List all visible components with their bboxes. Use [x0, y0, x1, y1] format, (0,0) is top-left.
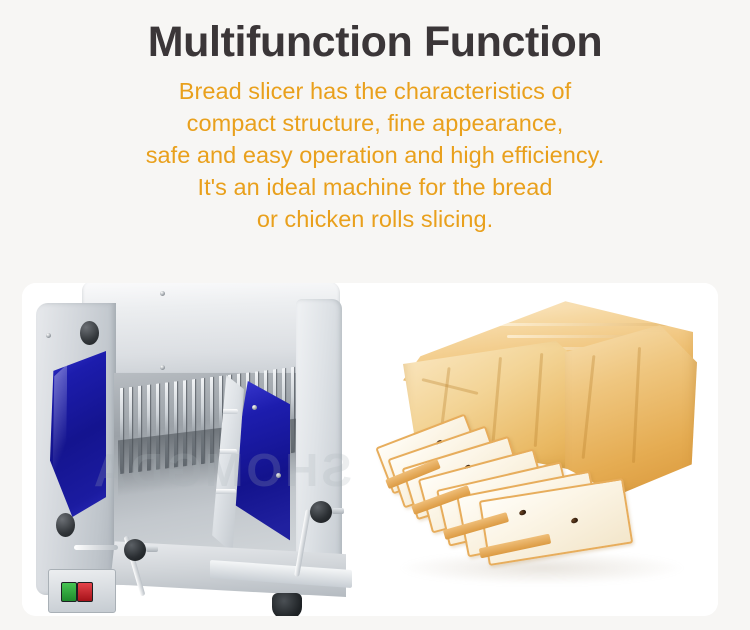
promo-banner: Multifunction Function Bread slicer has … — [0, 0, 750, 630]
machine-port-lower — [56, 513, 75, 537]
machine-screw — [46, 333, 51, 338]
header-text-block: Multifunction Function Bread slicer has … — [0, 0, 750, 283]
machine-port-upper — [80, 321, 99, 345]
page-title: Multifunction Function — [0, 0, 750, 69]
machine-adjust-knob-right[interactable] — [310, 501, 332, 523]
bread-photo — [367, 283, 718, 616]
description-paragraph: Bread slicer has the characteristics of … — [0, 69, 750, 235]
machine-screw — [160, 291, 165, 296]
description-line-2: compact structure, fine appearance, — [0, 107, 750, 139]
description-line-5: or chicken rolls slicing. — [0, 203, 750, 235]
description-line-1: Bread slicer has the characteristics of — [0, 75, 750, 107]
power-on-switch[interactable] — [61, 582, 77, 602]
loaf-end-face — [565, 325, 697, 495]
machine-screw — [160, 365, 165, 370]
machine-cross-rod — [74, 545, 118, 550]
machine-control-box — [48, 569, 116, 613]
machine-caster-wheel — [272, 593, 302, 616]
product-photo-panel: SHOMGDA — [22, 283, 718, 616]
description-line-3: safe and easy operation and high efficie… — [0, 139, 750, 171]
description-line-4: It's an ideal machine for the bread — [0, 171, 750, 203]
machine-photo: SHOMGDA — [22, 283, 367, 616]
bread-illustration — [367, 283, 718, 616]
machine-screw — [276, 473, 281, 478]
machine-illustration: SHOMGDA — [22, 283, 367, 616]
machine-adjust-knob-left[interactable] — [124, 539, 146, 561]
machine-screw — [252, 405, 257, 410]
power-off-switch[interactable] — [77, 582, 93, 602]
